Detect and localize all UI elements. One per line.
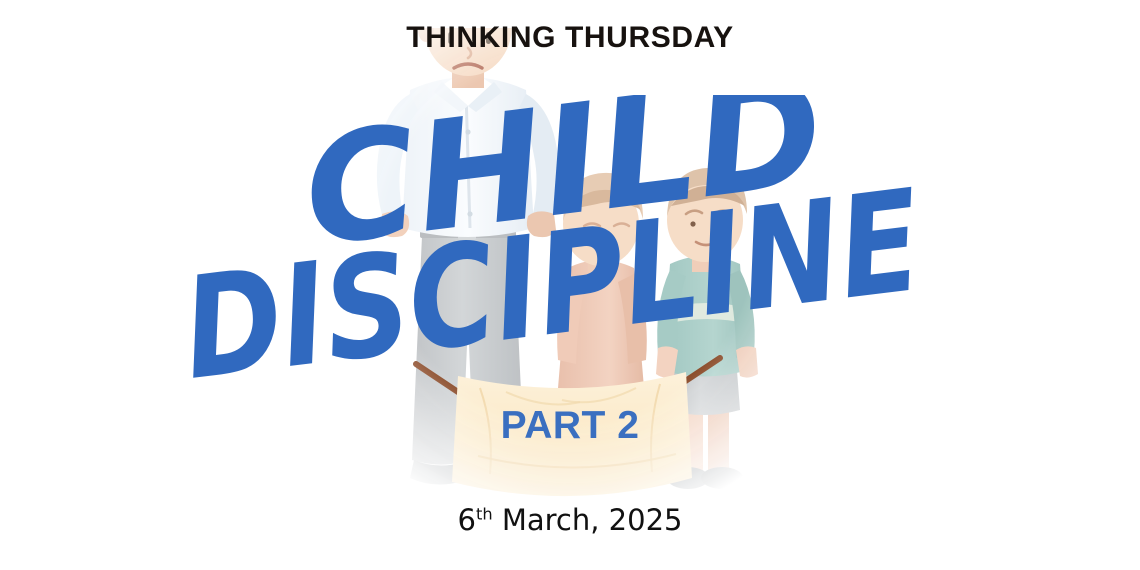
date-month-year: March, 2025 [493, 503, 683, 537]
presentation-slide: THINKING THURSDAY [0, 0, 1140, 570]
eyebrow-title: THINKING THURSDAY [0, 21, 1140, 55]
banner-part-label: PART 2 [460, 404, 680, 448]
date-ordinal-suffix: th [476, 504, 493, 523]
date-line: 6th March, 2025 [0, 503, 1140, 537]
date-day: 6 [458, 503, 476, 537]
